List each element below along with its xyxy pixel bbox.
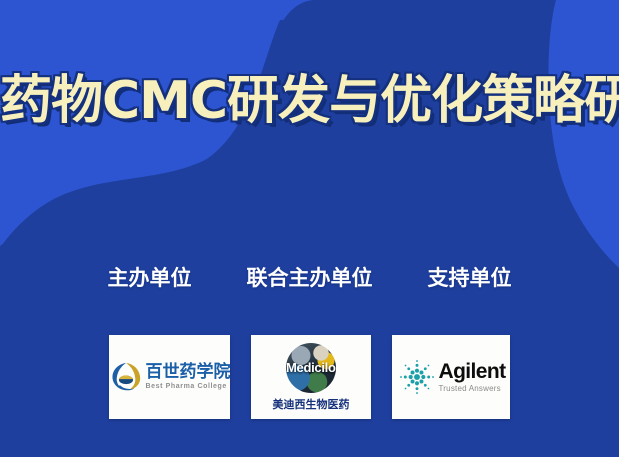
label-co-host: 联合主办单位 [225, 262, 395, 292]
best-pharma-college-text: 百世药学院 Best Pharma College [146, 364, 231, 390]
organizer-labels: 主办单位 联合主办单位 支持单位 [0, 262, 619, 292]
medicilon-cn-name: 美迪西生物医药 [273, 396, 350, 412]
medicilon-wordmark: Medicilon [286, 360, 336, 375]
best-pharma-college-logo: 百世药学院 Best Pharma College [109, 360, 230, 394]
agilent-tagline: Trusted Answers [439, 385, 501, 393]
logo-cn-name: 百世药学院 [146, 364, 231, 381]
agilent-text: Agilent Trusted Answers [439, 361, 506, 393]
label-supporter: 支持单位 [395, 262, 545, 292]
label-host: 主办单位 [75, 262, 225, 292]
page-title-text: 药物CMC研发与优化策略研讨会 [0, 70, 619, 132]
logo-card-best-pharma-college[interactable]: 百世药学院 Best Pharma College [109, 335, 230, 419]
circle-photo-icon: Medicilon [286, 343, 336, 393]
logo-card-medicilon[interactable]: Medicilon 美迪西生物医药 [251, 335, 371, 419]
agilent-name: Agilent [439, 361, 506, 382]
logo-en-name: Best Pharma College [146, 383, 231, 390]
starburst-icon [397, 357, 437, 397]
seminar-poster: 药物CMC研发与优化策略研讨会 主办单位 联合主办单位 支持单位 [0, 0, 619, 457]
logo-row: 百世药学院 Best Pharma College Medicilon 美迪西生… [0, 335, 619, 419]
medicilon-logo: Medicilon 美迪西生物医药 [273, 343, 350, 412]
page-title: 药物CMC研发与优化策略研讨会 [0, 70, 619, 132]
logo-card-agilent[interactable]: Agilent Trusted Answers [392, 335, 510, 419]
swirl-icon [109, 360, 143, 394]
agilent-logo: Agilent Trusted Answers [394, 357, 509, 397]
